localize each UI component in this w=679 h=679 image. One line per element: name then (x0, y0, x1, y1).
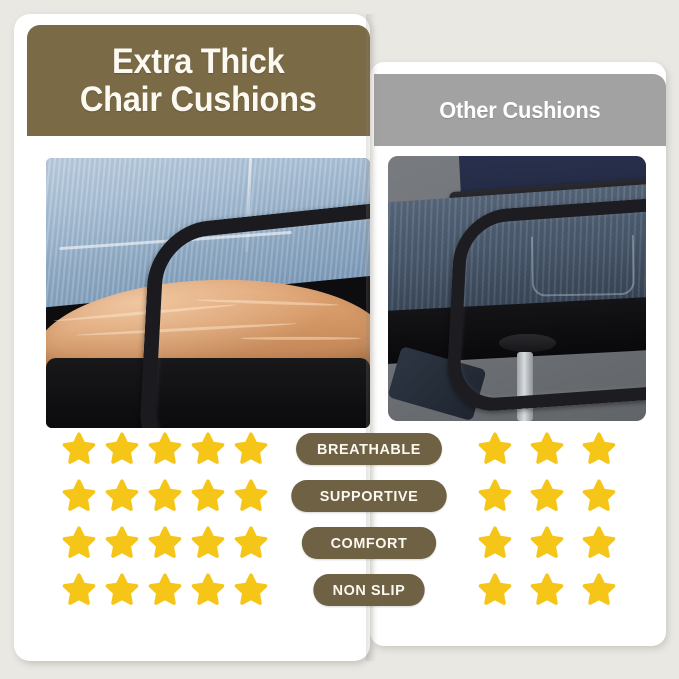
right-card-title: Other Cushions (439, 97, 600, 124)
left-star-rating-row (62, 573, 287, 607)
photo-chair-armrest (445, 194, 646, 413)
star-icon (478, 432, 512, 466)
right-product-photo (388, 156, 646, 421)
star-icon (234, 573, 268, 607)
star-icon (148, 432, 182, 466)
right-card-header: Other Cushions (374, 74, 666, 146)
star-icon (105, 573, 139, 607)
right-star-rating-row (478, 479, 628, 513)
star-icon (478, 573, 512, 607)
star-icon (191, 573, 225, 607)
right-star-rating-row (478, 526, 628, 560)
star-icon (234, 479, 268, 513)
star-icon (148, 479, 182, 513)
star-icon (62, 479, 96, 513)
star-icon (62, 526, 96, 560)
feature-label-pill[interactable]: SUPPORTIVE (291, 480, 447, 512)
left-card-title: Extra Thick Chair Cushions (80, 43, 317, 118)
star-icon (582, 573, 616, 607)
star-icon (530, 479, 564, 513)
star-icon (582, 432, 616, 466)
feature-label-pill[interactable]: NON SLIP (313, 574, 424, 606)
right-star-rating-row (478, 573, 628, 607)
star-icon (191, 479, 225, 513)
star-icon (530, 526, 564, 560)
star-icon (478, 526, 512, 560)
star-icon (105, 479, 139, 513)
star-icon (478, 479, 512, 513)
left-card-header: Extra Thick Chair Cushions (27, 25, 370, 136)
right-star-rating-row (478, 432, 628, 466)
star-icon (191, 432, 225, 466)
star-icon (62, 432, 96, 466)
left-star-rating-row (62, 479, 287, 513)
star-icon (191, 526, 225, 560)
feature-label-pill[interactable]: BREATHABLE (296, 433, 442, 465)
star-icon (234, 526, 268, 560)
left-star-rating-row (62, 432, 287, 466)
left-product-card: Extra Thick Chair Cushions (14, 14, 370, 661)
star-icon (148, 526, 182, 560)
star-icon (105, 526, 139, 560)
star-icon (530, 432, 564, 466)
feature-label-pill[interactable]: COMFORT (302, 527, 436, 559)
star-icon (234, 432, 268, 466)
star-icon (582, 479, 616, 513)
star-icon (105, 432, 139, 466)
left-product-photo (46, 158, 370, 428)
left-star-rating-row (62, 526, 287, 560)
star-icon (148, 573, 182, 607)
star-icon (530, 573, 564, 607)
infographic-canvas: Extra Thick Chair Cushions Other Cushion… (0, 0, 679, 679)
star-icon (62, 573, 96, 607)
star-icon (582, 526, 616, 560)
